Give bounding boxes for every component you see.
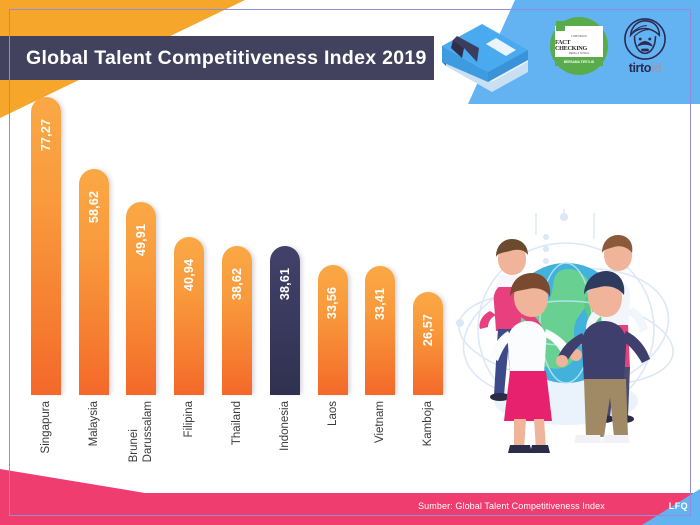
badge-sub-line: MEDIA & SOSIAL <box>569 53 590 56</box>
bar-value-label: 58,62 <box>87 190 101 222</box>
bar-column: 38,61 <box>261 86 309 395</box>
bar-vietnam[interactable]: 33,41 <box>365 266 395 395</box>
bar-column: 40,94 <box>165 86 213 395</box>
bar-chart: 77,27 58,62 49,91 40,94 38,62 38,61 33,5… <box>22 86 452 491</box>
category-thailand: Thailand <box>213 397 261 491</box>
category-label: Brunei Darussalam <box>127 401 155 462</box>
category-label: Filipina <box>183 401 195 437</box>
bar-laos[interactable]: 33,56 <box>318 265 348 395</box>
bar-column: 33,56 <box>309 86 357 395</box>
bar-value-label: 49,91 <box>134 224 148 256</box>
bar-column: 77,27 <box>22 86 70 395</box>
category-kamboja: Kamboja <box>404 397 452 491</box>
logo-group: TURN BACK FACT CHECKING MEDIA & SOSIAL B… <box>550 10 692 82</box>
category-filipina: Filipina <box>165 397 213 491</box>
category-brunei-darussalam: Brunei Darussalam <box>118 397 166 491</box>
people-around-globe-illustration <box>448 205 690 455</box>
badge-corner-mark <box>556 21 565 31</box>
tirto-id-logo: tirtoid <box>616 17 674 75</box>
bar-indonesia[interactable]: 38,61 <box>270 246 300 395</box>
bar-thailand[interactable]: 38,62 <box>222 246 252 395</box>
category-axis: Singapura Malaysia Brunei Darussalam Fil… <box>22 397 452 491</box>
bar-value-label: 33,56 <box>326 287 340 319</box>
category-label: Indonesia <box>279 401 291 451</box>
badge-top-line: TURN BACK <box>571 36 587 39</box>
bar-column: 49,91 <box>118 86 166 395</box>
bar-value-label: 38,62 <box>230 268 244 300</box>
category-label: Kamboja <box>422 401 434 446</box>
bar-column: 38,62 <box>213 86 261 395</box>
bar-malaysia[interactable]: 58,62 <box>79 169 109 395</box>
footer-source-label: Sumber: Global Talent Competitiveness In… <box>418 501 605 511</box>
page-title: Global Talent Competitiveness Index 2019 <box>26 47 427 70</box>
fact-check-badge: TURN BACK FACT CHECKING MEDIA & SOSIAL B… <box>550 17 608 75</box>
bar-value-label: 38,61 <box>278 268 292 300</box>
tirto-wordmark: tirtoid <box>629 62 662 75</box>
category-indonesia: Indonesia <box>261 397 309 491</box>
bar-value-label: 40,94 <box>182 259 196 291</box>
category-malaysia: Malaysia <box>70 397 118 491</box>
bar-value-label: 33,41 <box>373 288 387 320</box>
book-illustration <box>424 18 536 98</box>
infographic-canvas: Global Talent Competitiveness Index 2019 <box>0 0 700 525</box>
bar-value-label: 26,57 <box>421 314 435 346</box>
category-laos: Laos <box>309 397 357 491</box>
bar-singapura[interactable]: 77,27 <box>31 97 61 396</box>
category-label: Thailand <box>231 401 243 445</box>
category-label: Vietnam <box>374 401 386 443</box>
bar-brunei-darussalam[interactable]: 49,91 <box>126 202 156 395</box>
badge-strip: BERSAMA TIRTO.ID <box>555 57 603 66</box>
bar-column: 33,41 <box>356 86 404 395</box>
bar-value-label: 77,27 <box>39 118 53 150</box>
category-label: Malaysia <box>88 401 100 446</box>
turban-man-icon <box>620 17 670 61</box>
category-label: Singapura <box>40 401 52 453</box>
bar-series: 77,27 58,62 49,91 40,94 38,62 38,61 33,5… <box>22 86 452 395</box>
badge-strip-label: BERSAMA TIRTO.ID <box>564 60 594 64</box>
bar-column: 26,57 <box>404 86 452 395</box>
badge-main-line: FACT CHECKING <box>555 40 603 52</box>
category-label: Laos <box>327 401 339 426</box>
title-bar: Global Talent Competitiveness Index 2019 <box>0 36 434 80</box>
footer: Sumber: Global Talent Competitiveness In… <box>418 501 688 511</box>
footer-credit-label: LFQ <box>669 501 688 511</box>
bar-column: 58,62 <box>70 86 118 395</box>
category-vietnam: Vietnam <box>356 397 404 491</box>
bar-kamboja[interactable]: 26,57 <box>413 292 443 395</box>
bar-filipina[interactable]: 40,94 <box>174 237 204 395</box>
